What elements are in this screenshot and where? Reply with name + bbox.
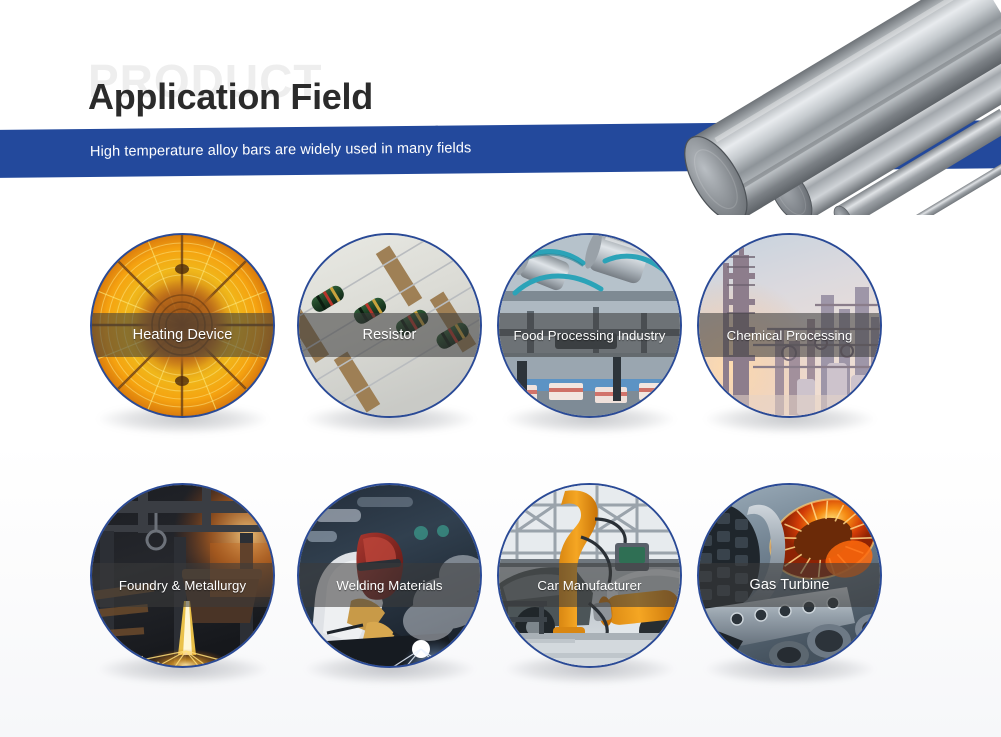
steel-bars-image [661, 0, 1001, 215]
circle-frame: Resistor [297, 233, 482, 418]
application-label: Foundry & Metallurgy [90, 563, 275, 607]
application-label-text: Car Manufacturer [537, 578, 641, 593]
circle-frame: Car Manufacturer [497, 483, 682, 668]
application-label: Welding Materials [297, 563, 482, 607]
application-item-car-manufacturer[interactable]: Car Manufacturer [497, 483, 682, 668]
page-title: Application Field [88, 76, 373, 117]
application-row: Foundry & Metallurgy [0, 483, 1001, 733]
application-label: Gas Turbine [697, 563, 882, 607]
circle-frame: Food Processing Industry [497, 233, 682, 418]
application-item-resistor[interactable]: Resistor [297, 233, 482, 418]
circle-frame: Foundry & Metallurgy [90, 483, 275, 668]
application-label: Chemical Processing [697, 313, 882, 357]
application-label-text: Gas Turbine [749, 577, 829, 593]
application-label-text: Heating Device [133, 327, 233, 343]
circle-frame: Gas Turbine [697, 483, 882, 668]
application-item-heating-device[interactable]: Heating Device [90, 233, 275, 418]
application-item-welding-materials[interactable]: Welding Materials [297, 483, 482, 668]
application-item-gas-turbine[interactable]: Gas Turbine [697, 483, 882, 668]
application-label-text: Welding Materials [336, 578, 442, 593]
application-label-text: Chemical Processing [727, 328, 853, 343]
application-label-text: Food Processing Industry [514, 328, 666, 343]
application-label: Heating Device [90, 313, 275, 357]
application-label: Car Manufacturer [497, 563, 682, 607]
application-item-foundry-metallurgy[interactable]: Foundry & Metallurgy [90, 483, 275, 668]
circle-frame: Welding Materials [297, 483, 482, 668]
application-label: Resistor [297, 313, 482, 357]
application-item-food-processing[interactable]: Food Processing Industry [497, 233, 682, 418]
application-field-slide: PRODUCT Application Field www.sunnysteel… [0, 0, 1001, 737]
circle-frame: Chemical Processing [697, 233, 882, 418]
application-label-text: Resistor [363, 327, 417, 343]
application-grid: Heating Device [0, 233, 1001, 733]
application-label-text: Foundry & Metallurgy [119, 578, 246, 593]
application-item-chemical-processing[interactable]: Chemical Processing [697, 233, 882, 418]
application-row: Heating Device [0, 233, 1001, 483]
application-label: Food Processing Industry [497, 313, 682, 357]
circle-frame: Heating Device [90, 233, 275, 418]
